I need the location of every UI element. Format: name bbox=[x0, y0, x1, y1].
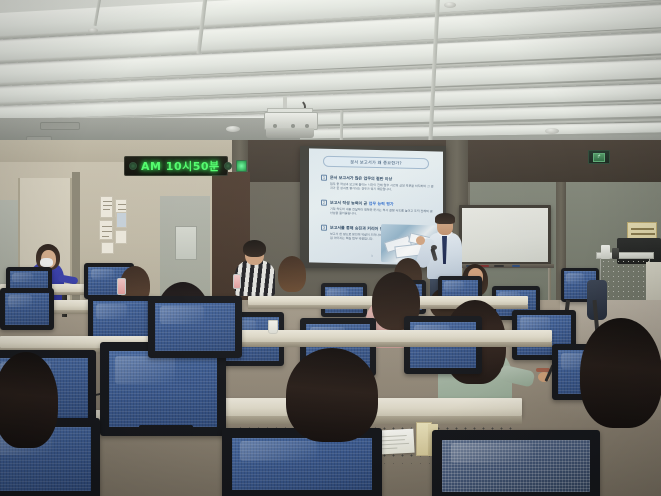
marker-icon bbox=[494, 265, 504, 267]
slide-bullet-sub: 업무 중 작성과 보고에 들이는 시간이 전체 업무 시간의 상당 부분을 차지… bbox=[330, 181, 435, 192]
slide-bullet-1: 1 문서 보고서가 많은 업무의 절반 이상 업무 중 작성과 보고에 들이는 … bbox=[321, 175, 435, 178]
projector-lens-icon bbox=[266, 128, 314, 138]
exit-arrow-icon: ↱ bbox=[593, 153, 605, 162]
clock-time-display: AM 10시50분 bbox=[141, 158, 220, 174]
smoke-detector-icon bbox=[444, 2, 456, 8]
led-indicator-icon bbox=[236, 160, 247, 172]
smoke-detector-icon bbox=[88, 28, 98, 33]
led-wall-clock: AM 10시50분 bbox=[124, 156, 228, 176]
slide-title: 문서 보고서가 왜 중요한가? bbox=[350, 159, 402, 166]
classroom-photo-scene: AM 10시50분 ↱ 문서 보고서가 왜 중요한가? 1 문서 보고서가 많은… bbox=[0, 0, 661, 496]
whiteboard-leg bbox=[548, 268, 551, 302]
slide-bullet-sub: 기획 의도와 내용 전달력이 명확한 문서는 의사 결정 속도를 높이고 조직 … bbox=[330, 206, 435, 217]
attendee-hair bbox=[286, 348, 378, 442]
whiteboard bbox=[459, 205, 551, 265]
marker-icon bbox=[512, 265, 520, 267]
sanitizer-bottle[interactable] bbox=[233, 274, 241, 289]
equipment-item bbox=[601, 245, 610, 259]
slide-bullet-number: 2 bbox=[321, 200, 327, 206]
equipment-item bbox=[612, 248, 619, 259]
cup[interactable] bbox=[268, 320, 278, 334]
emergency-exit-sign: ↱ bbox=[588, 150, 610, 164]
attendee-hair bbox=[0, 352, 58, 448]
chair-foreground[interactable] bbox=[432, 430, 600, 496]
slide-title-box: 문서 보고서가 왜 중요한가? bbox=[323, 156, 429, 170]
slide-bullet-heading-text: 보고서 작성 능력이 곧 bbox=[330, 200, 367, 206]
attendee-hair bbox=[580, 318, 661, 428]
glass-window bbox=[175, 226, 197, 260]
attendee-hair bbox=[243, 240, 266, 257]
presenter-hair bbox=[435, 213, 455, 224]
slide-bullet-number: 3 bbox=[321, 225, 327, 231]
chair[interactable] bbox=[148, 296, 242, 358]
ceiling-vent bbox=[40, 122, 80, 130]
slide-bullet-2: 2 보고서 작성 능력이 곧 업무 능력 평가 기획 의도와 내용 전달력이 명… bbox=[321, 200, 435, 203]
chair-foreground[interactable] bbox=[222, 428, 382, 496]
slide-page-number: 3 bbox=[371, 254, 373, 258]
desk bbox=[232, 330, 552, 342]
slide-bullet-number: 1 bbox=[321, 175, 327, 181]
attendee-torso bbox=[235, 260, 275, 296]
face-mask bbox=[40, 258, 53, 267]
sanitizer-bottle[interactable] bbox=[117, 278, 126, 295]
smoke-detector-icon bbox=[226, 126, 240, 132]
smoke-detector-icon bbox=[545, 128, 559, 134]
attendee-hair bbox=[278, 256, 306, 292]
clock-dot-indicator-icon bbox=[224, 162, 232, 170]
slide-bullet-highlight: 업무 능력 평가 bbox=[369, 201, 394, 207]
clock-dot-indicator-icon bbox=[129, 162, 137, 170]
presenter-hand bbox=[416, 236, 425, 245]
chair[interactable] bbox=[0, 288, 54, 330]
ceiling bbox=[0, 0, 661, 152]
